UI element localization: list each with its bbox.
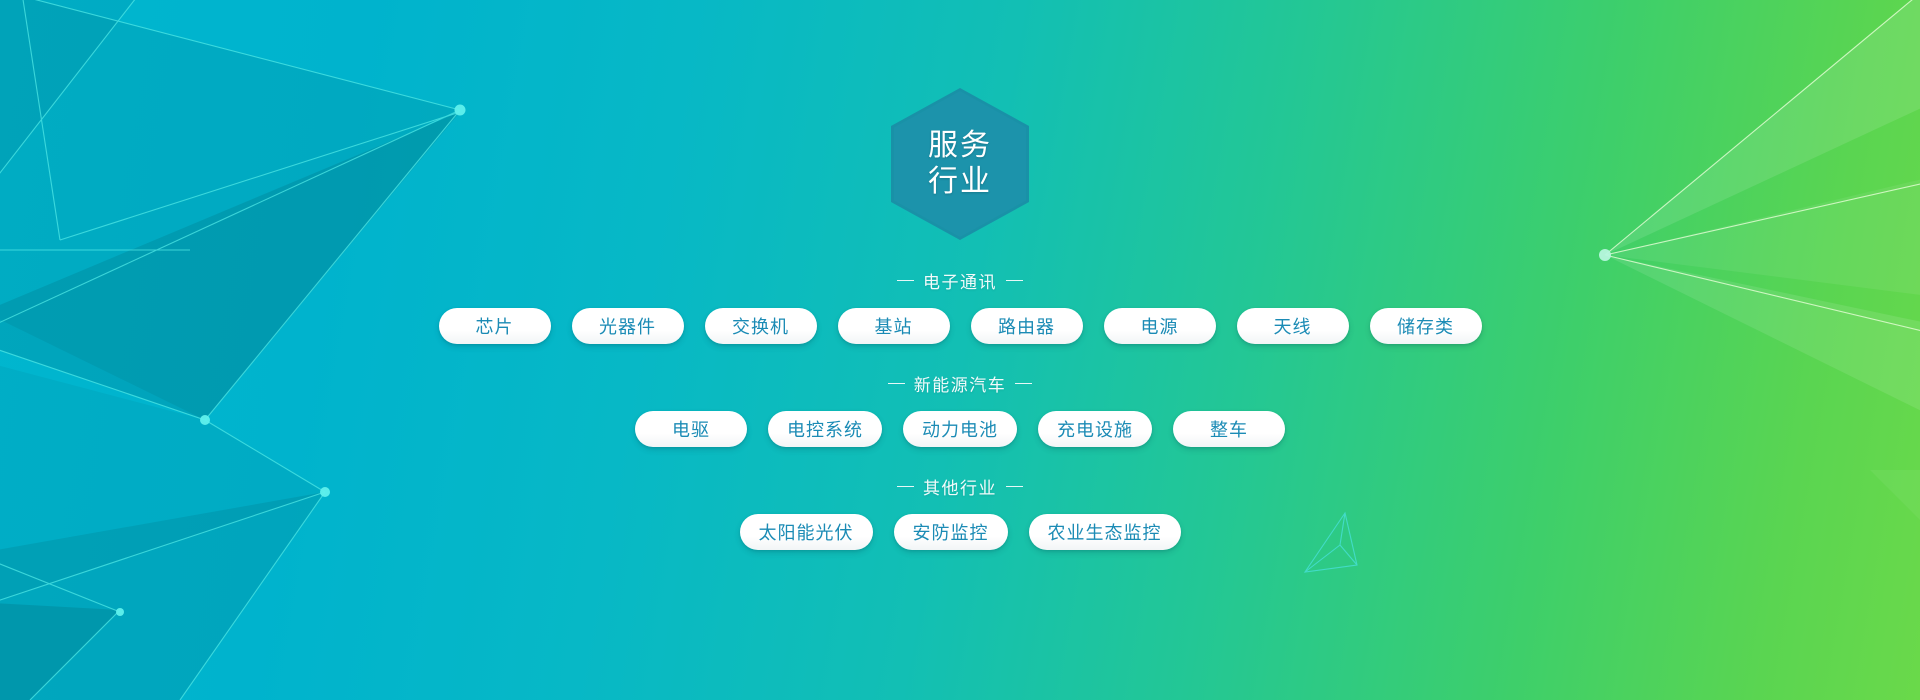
section-title-text: 电子通讯 (923, 268, 997, 293)
tag-router[interactable]: 路由器 (971, 308, 1083, 344)
section-heading-new-energy-vehicle: 新能源汽车 (888, 371, 1033, 396)
tag-electric-drive[interactable]: 电驱 (635, 411, 747, 447)
tag-whole-vehicle[interactable]: 整车 (1173, 411, 1285, 447)
dash-right-icon (1006, 280, 1023, 282)
badge-title: 服务 行业 (891, 88, 1029, 240)
tag-power-supply[interactable]: 电源 (1104, 308, 1216, 344)
tag-antenna[interactable]: 天线 (1237, 308, 1349, 344)
dash-left-icon (888, 383, 905, 385)
section-heading-electronics: 电子通讯 (897, 268, 1023, 293)
dash-right-icon (1006, 486, 1023, 488)
tag-agricultural-ecology-monitoring[interactable]: 农业生态监控 (1029, 514, 1181, 550)
dash-right-icon (1015, 383, 1032, 385)
tag-power-battery[interactable]: 动力电池 (903, 411, 1017, 447)
section-title-text: 新能源汽车 (914, 371, 1007, 396)
tag-chip[interactable]: 芯片 (439, 308, 551, 344)
tag-optical-device[interactable]: 光器件 (572, 308, 684, 344)
tag-charging-facility[interactable]: 充电设施 (1038, 411, 1152, 447)
tag-switch[interactable]: 交换机 (705, 308, 817, 344)
tag-row-electronics: 芯片 光器件 交换机 基站 路由器 电源 天线 储存类 (439, 308, 1482, 344)
badge-title-line2: 行业 (928, 164, 992, 200)
tag-security-monitoring[interactable]: 安防监控 (894, 514, 1008, 550)
dash-left-icon (897, 280, 914, 282)
industry-banner: 服务 行业 电子通讯 芯片 光器件 交换机 基站 路由器 电源 天线 储存类 新… (0, 0, 1920, 700)
tag-solar-photovoltaic[interactable]: 太阳能光伏 (740, 514, 873, 550)
service-industry-badge: 服务 行业 (891, 88, 1029, 240)
tag-row-new-energy-vehicle: 电驱 电控系统 动力电池 充电设施 整车 (635, 411, 1285, 447)
section-title-text: 其他行业 (923, 474, 997, 499)
badge-title-line1: 服务 (928, 128, 992, 164)
tag-base-station[interactable]: 基站 (838, 308, 950, 344)
tag-electronic-control[interactable]: 电控系统 (768, 411, 882, 447)
tag-row-other-industries: 太阳能光伏 安防监控 农业生态监控 (740, 514, 1181, 550)
tag-storage[interactable]: 储存类 (1370, 308, 1482, 344)
dash-left-icon (897, 486, 914, 488)
section-heading-other-industries: 其他行业 (897, 474, 1023, 499)
